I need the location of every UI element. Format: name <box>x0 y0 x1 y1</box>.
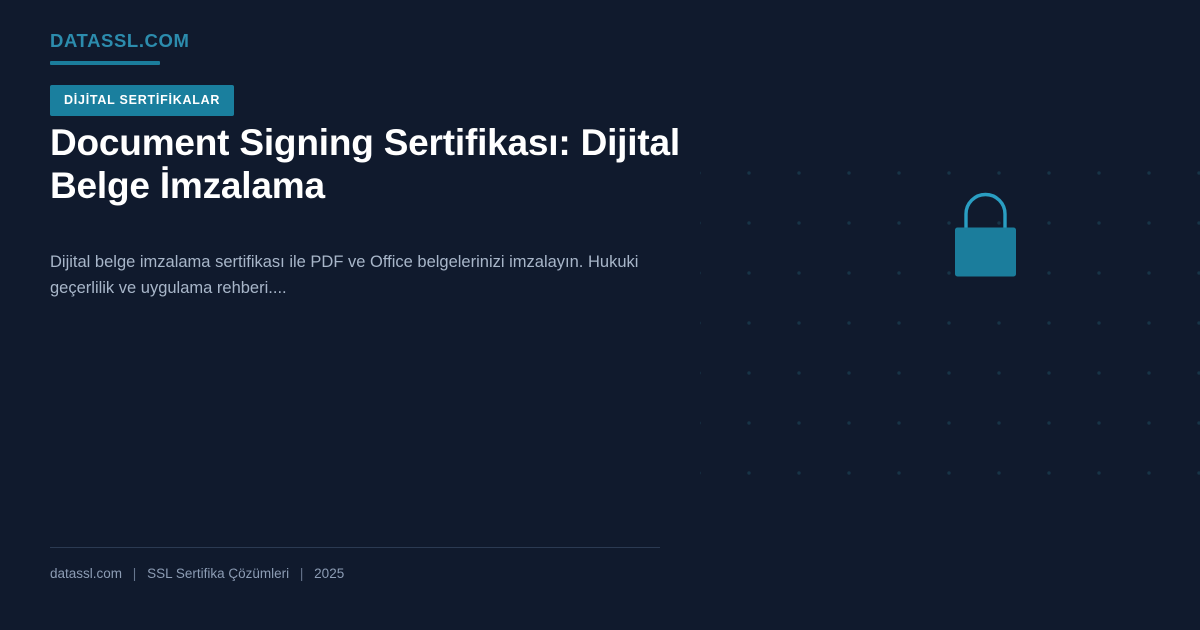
footer-separator-1: | <box>126 566 144 581</box>
padlock-icon <box>938 182 1033 287</box>
page-description: Dijital belge imzalama sertifikası ile P… <box>50 250 675 301</box>
padlock-shackle <box>966 195 1005 231</box>
social-share-card: DATASSL.COM DİJİTAL SERTİFİKALAR Documen… <box>0 0 1200 630</box>
padlock-body <box>955 228 1016 277</box>
page-title: Document Signing Sertifikası: Dijital Be… <box>50 122 710 208</box>
brand-underline <box>50 61 160 65</box>
category-badge[interactable]: DİJİTAL SERTİFİKALAR <box>50 85 234 116</box>
brand-name: DATASSL.COM <box>50 32 190 51</box>
footer-tagline: SSL Sertifika Çözümleri <box>147 566 289 581</box>
footer: datassl.com | SSL Sertifika Çözümleri | … <box>50 566 344 581</box>
content-column: DATASSL.COM DİJİTAL SERTİFİKALAR Documen… <box>50 0 710 630</box>
footer-year: 2025 <box>314 566 344 581</box>
footer-divider <box>50 547 660 548</box>
footer-site[interactable]: datassl.com <box>50 566 122 581</box>
brand-logo[interactable]: DATASSL.COM <box>50 32 190 65</box>
footer-separator-2: | <box>293 566 311 581</box>
